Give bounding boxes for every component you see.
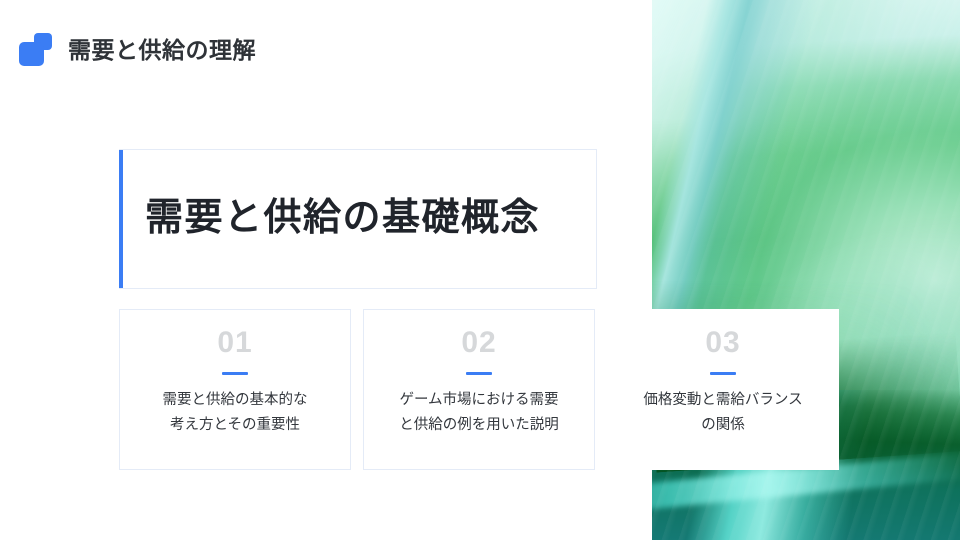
brand-logo-icon — [18, 33, 54, 67]
title-card-heading: 需要と供給の基礎概念 — [119, 196, 540, 242]
slide: 需要と供給の理解 需要と供給の基礎概念 01 需要と供給の基本的な考え方とその重… — [0, 0, 960, 540]
agenda-card-03[interactable]: 03 価格変動と需給バランスの関係 — [607, 309, 839, 470]
agenda-card-text: ゲーム市場における需要と供給の例を用いた説明 — [396, 388, 562, 438]
agenda-card-01[interactable]: 01 需要と供給の基本的な考え方とその重要性 — [119, 309, 351, 470]
agenda-card-divider — [466, 372, 492, 375]
title-card: 需要と供給の基礎概念 — [119, 149, 597, 289]
agenda-card-number: 01 — [217, 328, 252, 358]
agenda-card-list: 01 需要と供給の基本的な考え方とその重要性 02 ゲーム市場における需要と供給… — [119, 309, 839, 470]
agenda-card-divider — [222, 372, 248, 375]
logo-square-large-icon — [19, 42, 44, 66]
agenda-card-divider — [710, 372, 736, 375]
agenda-card-text: 需要と供給の基本的な考え方とその重要性 — [158, 388, 313, 438]
agenda-card-number: 02 — [461, 328, 496, 358]
header: 需要と供給の理解 — [0, 0, 256, 67]
agenda-card-number: 03 — [705, 328, 740, 358]
agenda-card-text: 価格変動と需給バランスの関係 — [640, 388, 806, 438]
agenda-card-02[interactable]: 02 ゲーム市場における需要と供給の例を用いた説明 — [363, 309, 595, 470]
title-accent-bar — [119, 150, 123, 288]
page-title: 需要と供給の理解 — [68, 39, 256, 62]
